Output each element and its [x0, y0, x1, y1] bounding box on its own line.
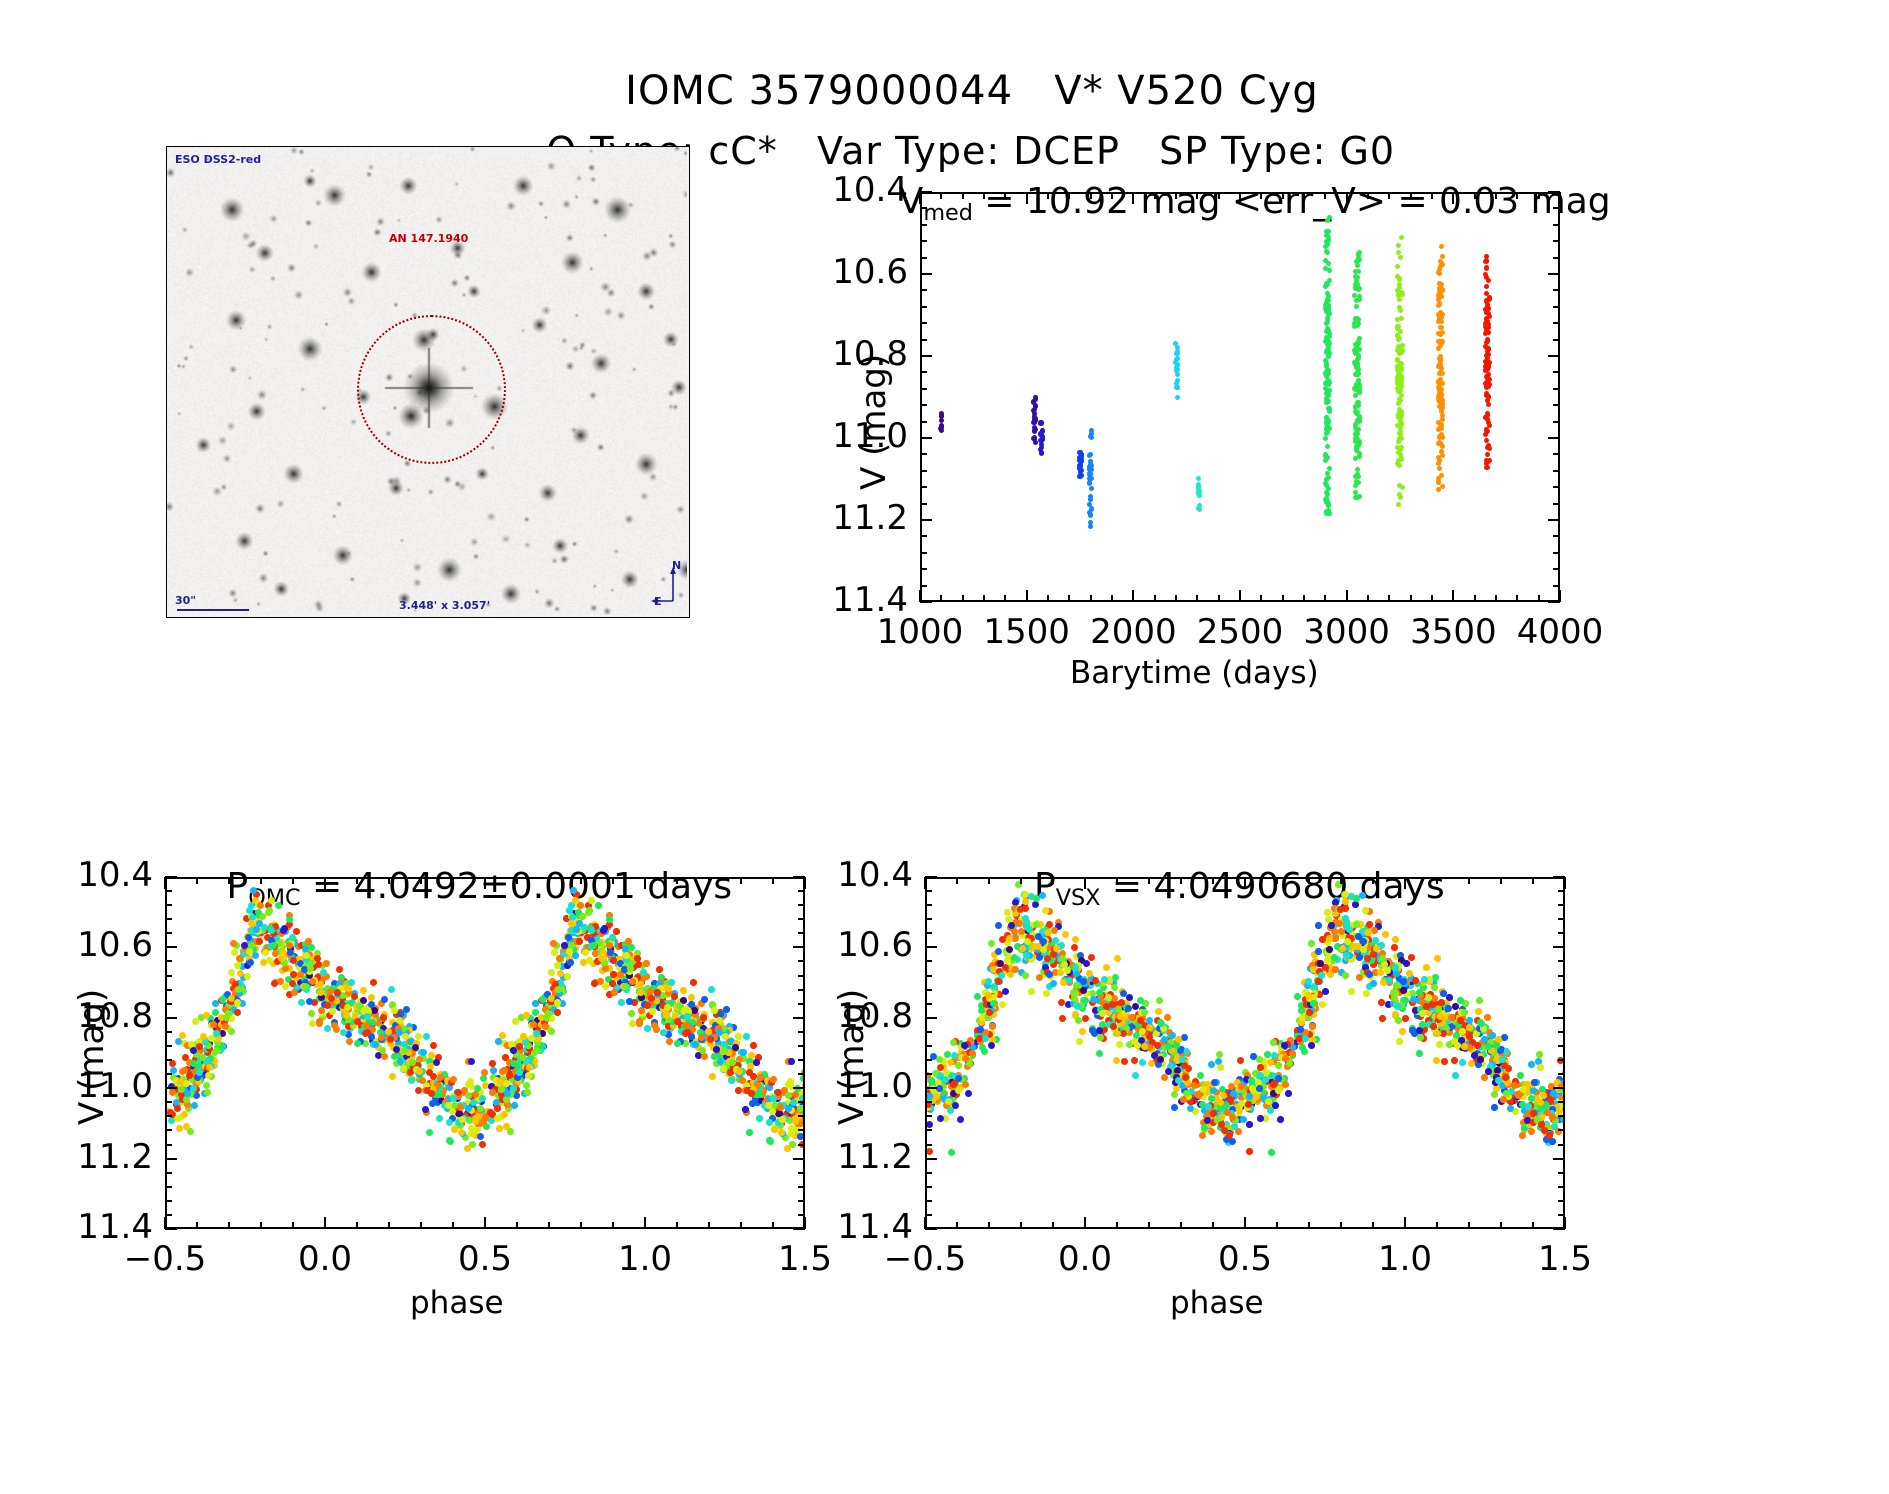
data-point: [1326, 298, 1331, 303]
y-minor-tick: [1553, 470, 1560, 472]
data-point: [746, 1129, 753, 1136]
data-point: [588, 897, 595, 904]
data-point: [393, 1046, 400, 1053]
x-minor-tick: [356, 877, 358, 884]
data-point: [709, 1073, 716, 1080]
x-minor-tick: [420, 1222, 422, 1229]
data-point: [1356, 341, 1361, 346]
data-point: [389, 1073, 396, 1080]
y-minor-tick: [165, 1003, 172, 1005]
data-point: [1396, 502, 1401, 507]
data-point: [643, 960, 650, 967]
data-point: [1486, 395, 1491, 400]
data-point: [713, 1046, 720, 1053]
data-point: [524, 1089, 531, 1096]
data-point: [368, 994, 375, 1001]
data-point: [1436, 379, 1441, 384]
y-major-tick: [165, 1228, 177, 1230]
data-point: [360, 987, 367, 994]
data-point: [503, 1123, 510, 1130]
data-point: [586, 957, 593, 964]
data-point: [1357, 388, 1362, 393]
data-point: [429, 1100, 436, 1107]
x-minor-tick: [580, 877, 582, 884]
data-point: [1033, 395, 1038, 400]
x-major-tick: [644, 1217, 646, 1229]
x-minor-tick: [1474, 595, 1476, 602]
data-point: [746, 1069, 753, 1076]
y-minor-tick: [920, 257, 927, 259]
x-minor-tick: [452, 877, 454, 884]
data-point: [1396, 324, 1401, 329]
data-point: [1398, 292, 1403, 297]
y-minor-tick: [165, 890, 172, 892]
data-point: [1476, 997, 1483, 1004]
x-minor-tick: [962, 192, 964, 199]
data-point: [1139, 1059, 1146, 1066]
data-point: [464, 1145, 471, 1152]
data-point: [1088, 524, 1093, 529]
data-point: [246, 907, 253, 914]
x-major-tick: [1239, 192, 1241, 204]
y-major-tick: [920, 437, 932, 439]
x-minor-tick: [1090, 595, 1092, 602]
data-point: [308, 1010, 315, 1017]
x-minor-tick: [940, 192, 942, 199]
x-major-tick: [1346, 192, 1348, 204]
data-point: [1078, 474, 1083, 479]
x-minor-tick: [1388, 595, 1390, 602]
data-point: [446, 1137, 453, 1144]
dss-finder-chart[interactable]: ESO DSS2-red AN 147.1940 30" 3.448' x 3.…: [166, 146, 690, 618]
data-point: [265, 909, 272, 916]
data-point: [602, 965, 609, 972]
x-minor-tick: [983, 595, 985, 602]
data-point: [1487, 446, 1492, 451]
data-point: [1484, 275, 1489, 280]
data-point: [792, 1118, 799, 1125]
y-major-tick: [165, 1017, 177, 1019]
x-minor-tick: [708, 1222, 710, 1229]
data-point: [1356, 258, 1361, 263]
x-tick-label: 0.5: [415, 1239, 555, 1279]
data-point: [699, 1047, 706, 1054]
x-minor-tick: [388, 1222, 390, 1229]
data-point: [271, 980, 278, 987]
data-point: [1528, 1128, 1535, 1135]
x-minor-tick: [1431, 595, 1433, 602]
x-minor-tick: [1495, 595, 1497, 602]
data-point: [210, 1021, 217, 1028]
y-minor-tick: [165, 918, 172, 920]
data-point: [1088, 512, 1093, 517]
data-point: [1440, 405, 1445, 410]
data-point: [1487, 295, 1492, 300]
phase-omc-plot-frame[interactable]: [165, 877, 805, 1229]
data-point: [1395, 357, 1400, 362]
phase-vsx-plot-frame[interactable]: [925, 877, 1565, 1229]
data-point: [1325, 282, 1330, 287]
x-minor-tick: [1367, 192, 1369, 199]
data-point: [378, 1034, 385, 1041]
data-point: [379, 1047, 386, 1054]
data-point: [550, 940, 557, 947]
data-point: [1004, 909, 1011, 916]
data-point: [1398, 425, 1403, 430]
x-minor-tick: [260, 1222, 262, 1229]
x-minor-tick: [548, 877, 550, 884]
y-major-tick: [1548, 273, 1560, 275]
data-point: [611, 989, 618, 996]
x-minor-tick: [1410, 595, 1412, 602]
x-minor-tick: [1367, 595, 1369, 602]
data-point: [230, 940, 237, 947]
data-point: [690, 979, 697, 986]
data-point: [613, 928, 620, 935]
data-point: [287, 949, 294, 956]
data-point: [1342, 972, 1349, 979]
data-point: [1423, 964, 1430, 971]
data-point: [666, 1038, 673, 1045]
dss-aperture-circle: [357, 315, 506, 464]
data-point: [1032, 420, 1037, 425]
data-point: [756, 1115, 763, 1122]
data-point: [1398, 308, 1403, 313]
y-minor-tick: [165, 932, 172, 934]
data-point: [1246, 1148, 1253, 1155]
y-minor-tick: [165, 1101, 172, 1103]
data-point: [656, 966, 663, 973]
data-point: [523, 1012, 530, 1019]
phase-omc-x-axis-label: phase: [410, 1285, 504, 1321]
data-point: [309, 978, 316, 985]
x-minor-tick: [1260, 192, 1262, 199]
data-point: [470, 1099, 477, 1106]
data-point: [1481, 1074, 1488, 1081]
y-minor-tick: [1553, 257, 1560, 259]
x-minor-tick: [196, 1222, 198, 1229]
x-minor-tick: [1324, 595, 1326, 602]
data-point: [489, 1089, 496, 1096]
y-minor-tick: [1553, 421, 1560, 423]
data-point: [995, 922, 1002, 929]
data-point: [723, 1006, 730, 1013]
data-point: [415, 1033, 422, 1040]
y-tick-label: 10.6: [15, 925, 153, 965]
data-point: [190, 1085, 197, 1092]
y-minor-tick: [1553, 585, 1560, 587]
data-point: [307, 965, 314, 972]
data-point: [408, 1077, 415, 1084]
dss-scale-label: 30": [175, 594, 196, 607]
data-point: [1398, 495, 1403, 500]
data-point: [1379, 1015, 1386, 1022]
data-point: [1315, 922, 1322, 929]
y-minor-tick: [165, 1214, 172, 1216]
data-point: [174, 1105, 181, 1112]
data-point: [1058, 999, 1065, 1006]
data-point: [1325, 239, 1330, 244]
x-minor-tick: [772, 877, 774, 884]
y-minor-tick: [1553, 535, 1560, 537]
x-minor-tick: [676, 877, 678, 884]
data-point: [965, 1090, 972, 1097]
data-point: [489, 1060, 496, 1067]
data-point: [649, 1008, 656, 1015]
data-point: [1324, 490, 1329, 495]
data-point: [1208, 1128, 1215, 1135]
data-point: [370, 979, 377, 986]
data-point: [1353, 456, 1358, 461]
data-point: [1355, 467, 1360, 472]
data-point: [740, 1049, 747, 1056]
data-point: [1161, 1074, 1168, 1081]
x-minor-tick: [1004, 595, 1006, 602]
data-point: [510, 1085, 517, 1092]
data-point: [1353, 483, 1358, 488]
data-point: [403, 1006, 410, 1013]
data-point: [582, 949, 589, 956]
data-point: [674, 1018, 681, 1025]
data-point: [1378, 999, 1385, 1006]
x-minor-tick: [1516, 595, 1518, 602]
lightcurve-data-area: [922, 194, 1558, 600]
data-point: [939, 425, 944, 430]
data-point: [1323, 458, 1328, 463]
data-point: [1399, 436, 1404, 441]
data-point: [1325, 444, 1330, 449]
x-minor-tick: [983, 192, 985, 199]
data-point: [680, 987, 687, 994]
data-point: [1033, 404, 1038, 409]
data-point: [743, 1033, 750, 1040]
data-point: [1399, 409, 1404, 414]
data-point: [363, 1022, 370, 1029]
data-point: [1196, 488, 1201, 493]
x-major-tick: [1452, 192, 1454, 204]
data-point: [315, 961, 322, 968]
data-point: [289, 980, 296, 987]
data-point: [1353, 285, 1358, 290]
data-point: [1089, 476, 1094, 481]
data-point: [323, 960, 330, 967]
data-point: [340, 1029, 347, 1036]
data-point: [1484, 284, 1489, 289]
data-point: [1399, 457, 1404, 462]
data-point: [477, 1133, 484, 1140]
data-point: [516, 1069, 523, 1076]
y-major-tick: [165, 946, 177, 948]
lightcurve-y-axis-label: V (mag): [854, 354, 894, 490]
data-point: [606, 916, 613, 923]
data-point: [479, 1141, 486, 1148]
data-point: [735, 1033, 742, 1040]
y-minor-tick: [798, 989, 805, 991]
x-minor-tick: [962, 595, 964, 602]
y-minor-tick: [165, 1045, 172, 1047]
data-point: [1563, 1093, 1565, 1100]
data-point: [1397, 282, 1402, 287]
data-point: [1438, 371, 1443, 376]
y-minor-tick: [1553, 552, 1560, 554]
data-point: [1485, 452, 1490, 457]
data-point: [779, 1116, 786, 1123]
data-point: [1436, 303, 1441, 308]
data-point: [1324, 361, 1329, 366]
y-minor-tick: [165, 1129, 172, 1131]
x-minor-tick: [1090, 192, 1092, 199]
data-point: [999, 1001, 1006, 1008]
data-point: [181, 1111, 188, 1118]
figure-root: IOMC 3579000044 V* V520 Cyg O Type: cC* …: [0, 0, 1889, 1494]
data-point: [955, 1062, 962, 1069]
data-point: [346, 1038, 353, 1045]
y-minor-tick: [920, 552, 927, 554]
data-point: [175, 1038, 182, 1045]
data-point: [788, 1125, 795, 1132]
data-point: [420, 1049, 427, 1056]
x-minor-tick: [196, 877, 198, 884]
x-major-tick: [1559, 590, 1561, 602]
dss-compass-icon: [651, 565, 685, 603]
data-point: [1485, 379, 1490, 384]
data-point: [1440, 484, 1445, 489]
data-point: [409, 1059, 416, 1066]
data-point: [721, 1047, 728, 1054]
y-major-tick: [920, 601, 932, 603]
x-minor-tick: [1218, 595, 1220, 602]
data-point: [591, 980, 598, 987]
data-point: [305, 938, 312, 945]
x-minor-tick: [388, 877, 390, 884]
x-major-tick: [324, 1217, 326, 1229]
data-point: [618, 999, 625, 1006]
data-point: [468, 1083, 475, 1090]
lightcurve-plot-frame[interactable]: [920, 192, 1560, 602]
y-minor-tick: [798, 1045, 805, 1047]
data-point: [1079, 454, 1084, 459]
data-point: [477, 1105, 484, 1112]
data-point: [1175, 395, 1180, 400]
data-point: [1356, 974, 1363, 981]
y-minor-tick: [165, 1144, 172, 1146]
data-point: [1356, 251, 1361, 256]
data-point: [196, 1069, 203, 1076]
x-minor-tick: [452, 1222, 454, 1229]
data-point: [1517, 1072, 1524, 1079]
x-major-tick: [919, 590, 921, 602]
data-point: [228, 1028, 235, 1035]
data-point: [1399, 316, 1404, 321]
x-major-tick: [324, 877, 326, 889]
data-point: [554, 1009, 561, 1016]
data-point: [430, 1042, 437, 1049]
y-minor-tick: [920, 503, 927, 505]
data-point: [494, 1115, 501, 1122]
data-point: [1327, 466, 1332, 471]
data-point: [1197, 507, 1202, 512]
y-minor-tick: [1553, 224, 1560, 226]
x-minor-tick: [740, 1222, 742, 1229]
data-point: [1396, 337, 1401, 342]
data-point: [1436, 480, 1441, 485]
x-major-tick: [164, 877, 166, 889]
data-point: [1437, 466, 1442, 471]
y-minor-tick: [165, 1200, 172, 1202]
data-point: [419, 1077, 426, 1084]
x-major-tick: [484, 877, 486, 889]
x-minor-tick: [260, 877, 262, 884]
y-tick-label: 10.6: [770, 252, 908, 292]
y-major-tick: [920, 519, 932, 521]
data-point: [286, 916, 293, 923]
panel-phase-omc: POMC = 4.0492±0.0001 days 10.410.610.811…: [50, 825, 840, 1425]
data-point: [753, 1059, 760, 1066]
data-point: [1324, 909, 1331, 916]
data-point: [270, 942, 277, 949]
data-point: [1395, 348, 1400, 353]
data-point: [548, 1028, 555, 1035]
data-point: [749, 1100, 756, 1107]
data-point: [293, 928, 300, 935]
panel-phase-vsx: PVSX = 4.0490680 days 10.410.610.811.011…: [810, 825, 1600, 1425]
data-point: [291, 989, 298, 996]
x-minor-tick: [1282, 595, 1284, 602]
data-point: [256, 938, 263, 945]
y-minor-tick: [1553, 486, 1560, 488]
data-point: [1315, 948, 1322, 955]
y-minor-tick: [165, 975, 172, 977]
x-major-tick: [919, 192, 921, 204]
y-minor-tick: [1553, 371, 1560, 373]
y-minor-tick: [798, 975, 805, 977]
data-point: [459, 1116, 466, 1123]
data-point: [481, 1069, 488, 1076]
x-minor-tick: [1410, 192, 1412, 199]
x-minor-tick: [1154, 595, 1156, 602]
data-point: [1039, 445, 1044, 450]
y-minor-tick: [920, 404, 927, 406]
y-minor-tick: [920, 568, 927, 570]
data-point: [268, 927, 275, 934]
y-minor-tick: [1553, 289, 1560, 291]
y-minor-tick: [165, 1031, 172, 1033]
data-point: [219, 996, 226, 1003]
data-point: [468, 1125, 475, 1132]
y-minor-tick: [920, 535, 927, 537]
data-point: [610, 957, 617, 964]
data-point: [566, 907, 573, 914]
data-point: [564, 973, 571, 980]
data-point: [331, 1022, 338, 1029]
data-point: [660, 1029, 667, 1036]
y-minor-tick: [165, 960, 172, 962]
data-point: [1439, 319, 1444, 324]
data-point: [1563, 1093, 1565, 1100]
data-point: [1323, 339, 1328, 344]
x-minor-tick: [1004, 192, 1006, 199]
y-minor-tick: [165, 1059, 172, 1061]
data-point: [1355, 322, 1360, 327]
data-point: [498, 1086, 505, 1093]
data-point: [1485, 337, 1490, 342]
x-minor-tick: [1196, 192, 1198, 199]
data-point: [688, 994, 695, 1001]
data-point: [1059, 1015, 1066, 1022]
y-minor-tick: [920, 289, 927, 291]
data-point: [1197, 503, 1202, 508]
y-tick-label: 11.2: [770, 498, 908, 538]
